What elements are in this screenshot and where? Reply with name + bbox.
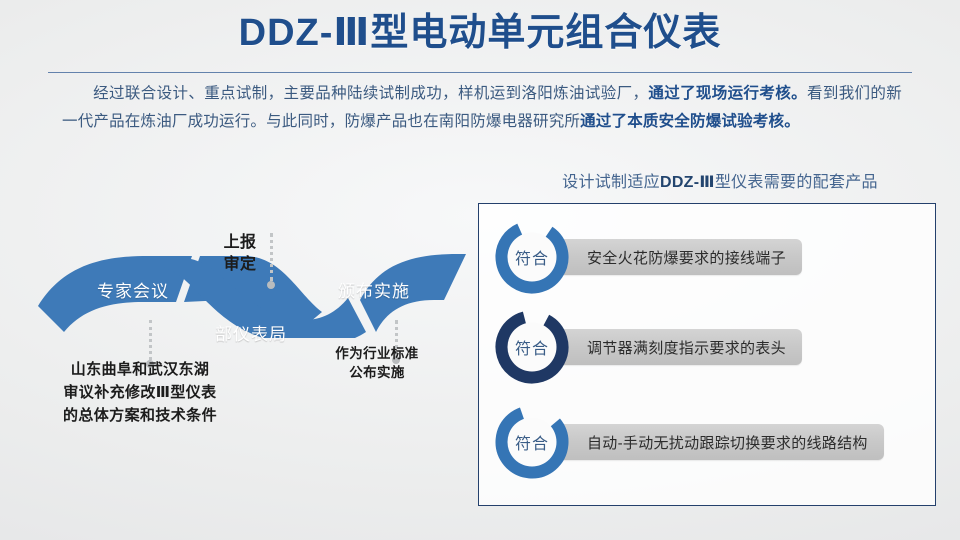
wave-step-label: 部仪表局 [215, 320, 287, 345]
wave-step-label: 专家会议 [97, 277, 169, 302]
product-label: 安全火花防爆要求的接线端子 [553, 239, 802, 275]
product-label: 自动-手动无扰动跟踪切换要求的线路结构 [553, 424, 884, 460]
panel-heading-suffix: 型仪表需要的配套产品 [715, 174, 878, 191]
slide-canvas: DDZ-Ⅲ型电动单元组合仪表 经过联合设计、重点试制，主要品种陆续试制成功，样机… [0, 0, 960, 540]
body-segment-1: 经过联合设计、重点试制，主要品种陆续试制成功，样机运到洛阳炼油试验厂， [93, 85, 648, 102]
list-item[interactable]: 符合 调节器满刻度指示要求的表头 [479, 304, 937, 390]
title-divider [48, 72, 912, 73]
supporting-products-panel: 符合 安全火花防爆要求的接线端子 符合 调节器满刻度指示要求的表头 符合 [478, 203, 936, 506]
compliance-ring-icon: 符合 [495, 310, 569, 384]
compliance-ring-icon: 符合 [495, 405, 569, 479]
body-paragraph: 经过联合设计、重点试制，主要品种陆续试制成功，样机运到洛阳炼油试验厂，通过了现场… [62, 80, 902, 136]
list-item[interactable]: 符合 自动-手动无扰动跟踪切换要求的线路结构 [479, 399, 937, 485]
caption-left: 山东曲阜和武汉东湖审议补充修改Ⅲ型仪表的总体方案和技术条件 [40, 358, 240, 427]
panel-heading-model: DDZ-Ⅲ [660, 174, 715, 191]
wave-step-label: 颁布实施 [338, 277, 410, 302]
compliance-ring-icon: 符合 [495, 220, 569, 294]
connector-dotted-line [149, 320, 152, 360]
panel-heading: 设计试制适应DDZ-Ⅲ型仪表需要的配套产品 [510, 168, 930, 192]
caption-top: 上报审定 [195, 232, 285, 276]
list-item[interactable]: 符合 安全火花防爆要求的接线端子 [479, 214, 937, 300]
compliance-badge-label: 符合 [495, 405, 569, 479]
compliance-badge-label: 符合 [495, 310, 569, 384]
body-segment-2-bold: 通过了现场运行考核。 [648, 85, 807, 102]
page-title: DDZ-Ⅲ型电动单元组合仪表 [0, 12, 960, 56]
compliance-badge-label: 符合 [495, 220, 569, 294]
body-segment-4-bold: 通过了本质安全防爆试验考核。 [580, 113, 800, 130]
connector-dot [267, 281, 275, 289]
caption-right: 作为行业标准公布实施 [315, 344, 439, 382]
panel-heading-prefix: 设计试制适应 [562, 174, 660, 191]
product-label: 调节器满刻度指示要求的表头 [553, 329, 802, 365]
